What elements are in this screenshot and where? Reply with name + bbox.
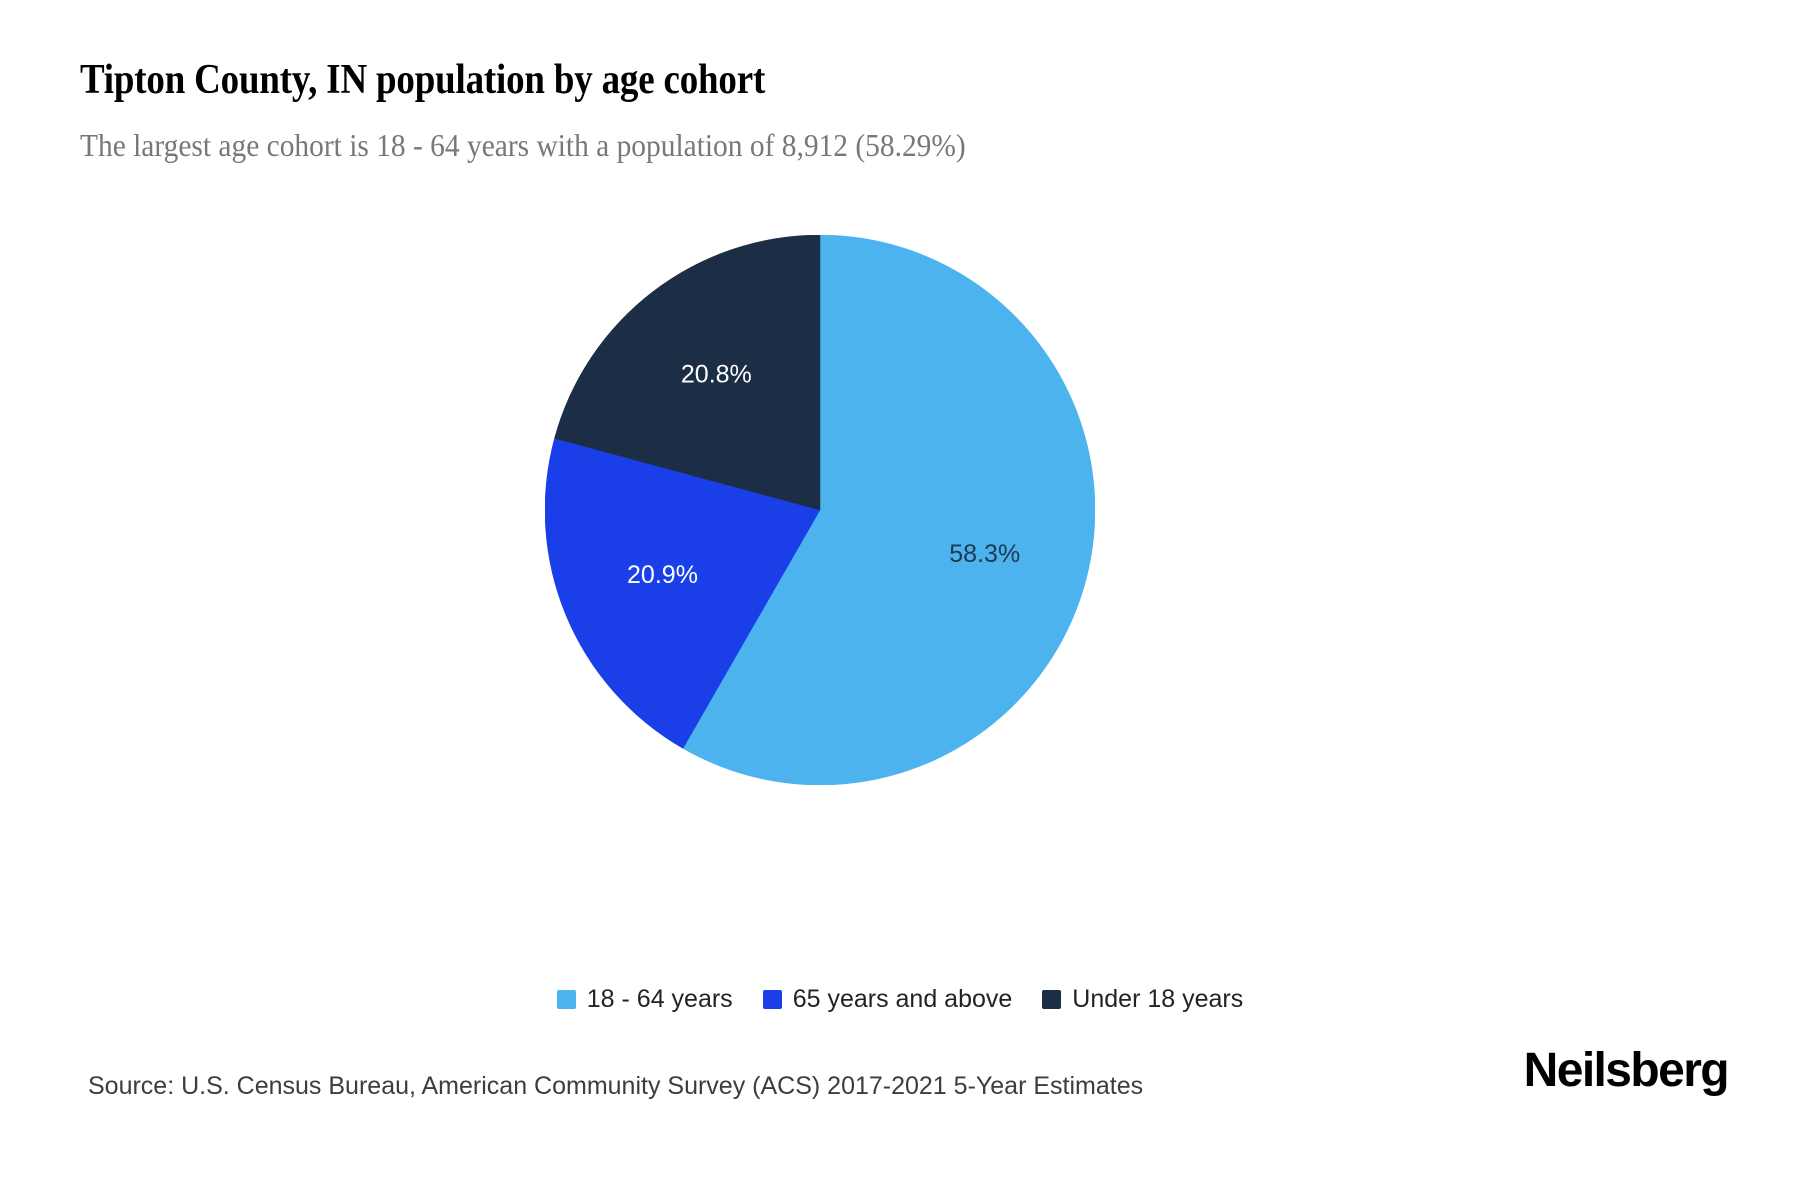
legend-item[interactable]: Under 18 years — [1042, 985, 1243, 1014]
pie-slice-label: 20.9% — [627, 561, 698, 589]
chart-subtitle: The largest age cohort is 18 - 64 years … — [80, 124, 966, 166]
brand-logo: Neilsberg — [1524, 1043, 1728, 1098]
legend-swatch-icon — [557, 990, 576, 1009]
legend-swatch-icon — [763, 990, 782, 1009]
legend-item[interactable]: 65 years and above — [763, 985, 1013, 1014]
chart-legend: 18 - 64 years65 years and aboveUnder 18 … — [0, 985, 1800, 1014]
source-note: Source: U.S. Census Bureau, American Com… — [88, 1072, 1143, 1101]
pie-chart-svg: 58.3%20.9%20.8% — [545, 235, 1095, 785]
legend-item[interactable]: 18 - 64 years — [557, 985, 733, 1014]
legend-item-label: Under 18 years — [1072, 985, 1243, 1014]
pie-slice-label: 20.8% — [681, 361, 752, 389]
pie-chart: 58.3%20.9%20.8% — [545, 235, 1095, 785]
legend-swatch-icon — [1042, 990, 1061, 1009]
page-title: Tipton County, IN population by age coho… — [80, 54, 765, 106]
legend-item-label: 65 years and above — [793, 985, 1013, 1014]
pie-slice-label: 58.3% — [949, 540, 1020, 568]
legend-item-label: 18 - 64 years — [587, 985, 733, 1014]
chart-page: Tipton County, IN population by age coho… — [0, 0, 1800, 1200]
